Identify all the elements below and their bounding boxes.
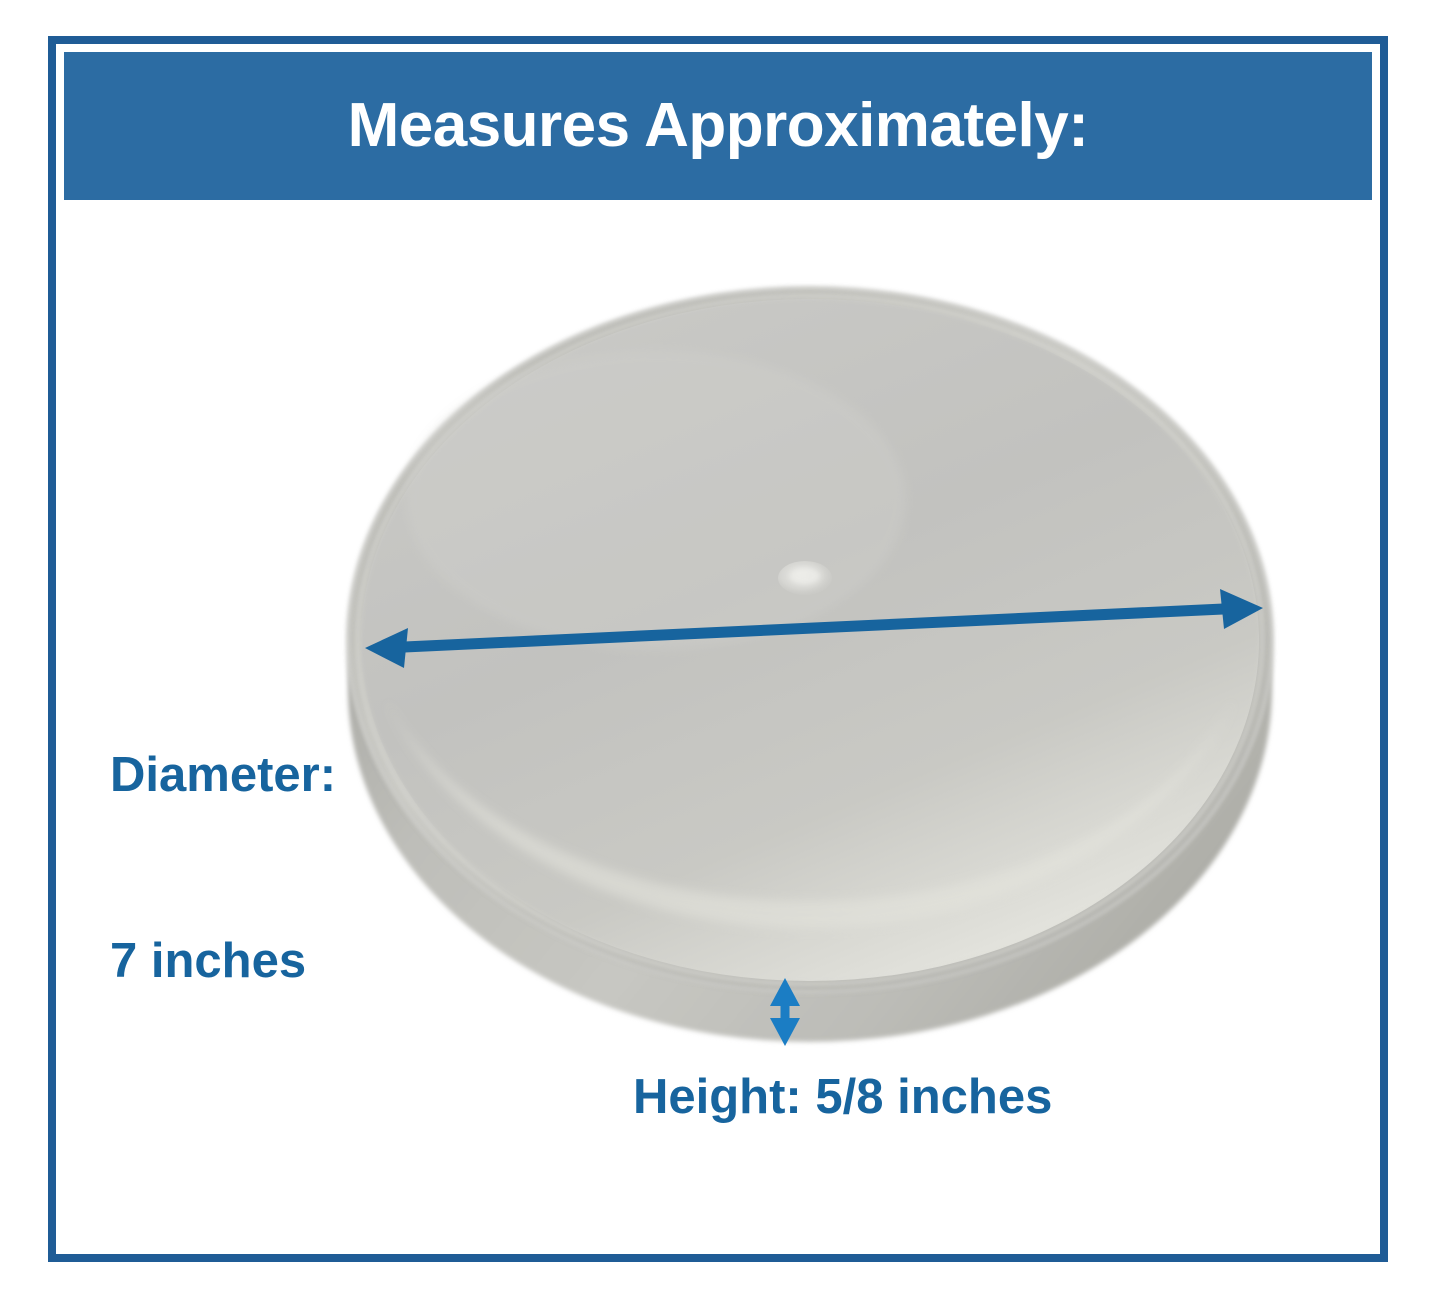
page-title: Measures Approximately: (348, 95, 1089, 157)
infographic-canvas: Measures Approximately: (0, 0, 1445, 1309)
lid-sheen (406, 350, 906, 650)
lid-center-nub (778, 561, 832, 595)
header-banner: Measures Approximately: (64, 52, 1372, 200)
height-label: Height: 5/8 inches (633, 1068, 1052, 1127)
diameter-label-line2: 7 inches (110, 931, 336, 993)
diameter-label: Diameter: 7 inches (110, 622, 336, 1116)
diameter-label-line1: Diameter: (110, 745, 336, 807)
